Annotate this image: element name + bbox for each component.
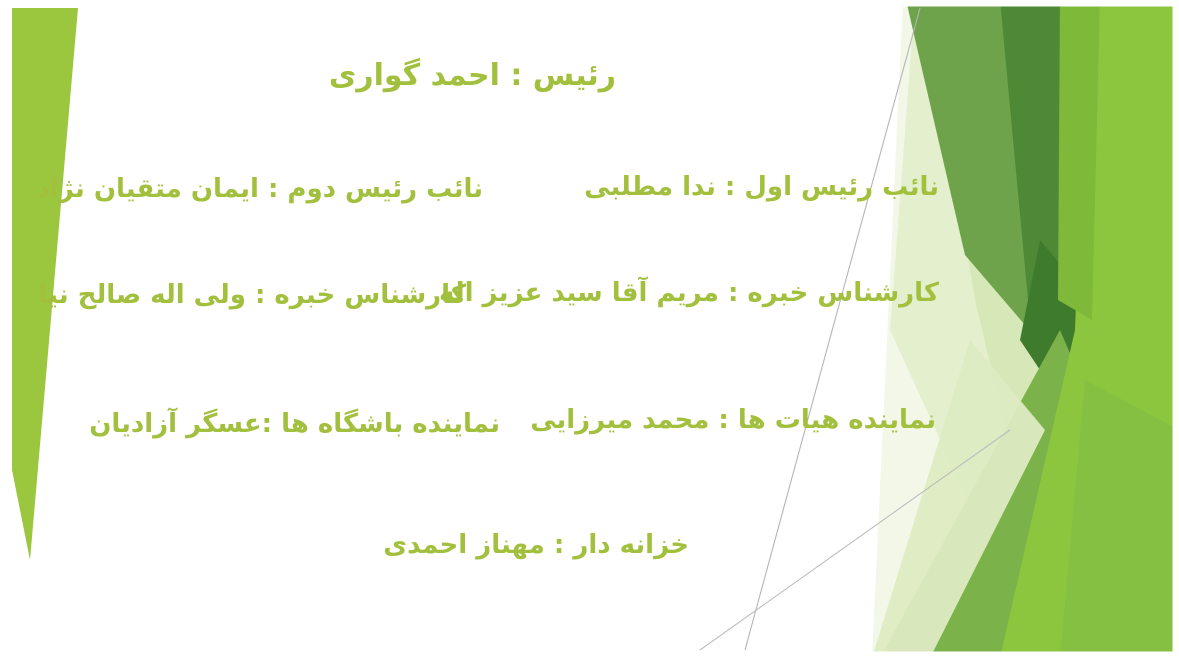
role-expert-one: کارشناس خبره : مریم آقا سید عزیز اله [439,278,939,308]
role-expert-two: کارشناس خبره : ولی اله صالح نیا [39,280,466,310]
role-chairman: رئیس : احمد گواری [329,58,616,93]
role-clubs-representative: نماینده باشگاه ها :عسگر آزادیان [70,408,500,441]
role-second-vice-chairman: نائب رئیس دوم : ایمان متقیان نژاد [37,174,483,204]
role-boards-representative: نماینده هیات ها : محمد میرزایی [530,405,936,435]
role-treasurer: خزانه دار : مهناز احمدی [383,530,689,560]
presentation-slide: رئیس : احمد گواری نائب رئیس اول : ندا مط… [0,0,1179,658]
slide-text-content: رئیس : احمد گواری نائب رئیس اول : ندا مط… [0,0,1179,658]
role-first-vice-chairman: نائب رئیس اول : ندا مطلبی [584,172,939,202]
